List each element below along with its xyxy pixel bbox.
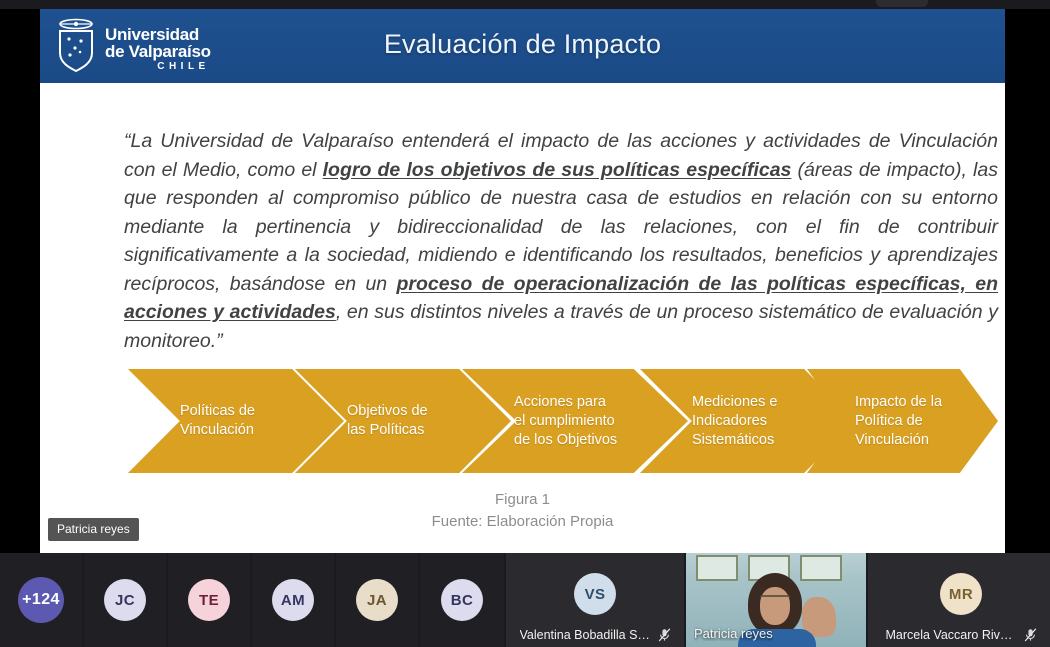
participant-tile[interactable]: TE [168,553,252,647]
wall-picture-frame [696,555,738,581]
avatar-initials: JA [367,592,387,609]
participant-tile[interactable]: BC [420,553,506,647]
participant-overflow-tile[interactable]: +124 [0,553,84,647]
meeting-window: Universidad de Valparaíso CHILE Evaluaci… [0,0,1050,647]
avatar[interactable]: AM [272,579,314,621]
overflow-avatar[interactable]: +124 [18,577,64,623]
wall-picture-frame [800,555,842,581]
avatar[interactable]: VS [574,573,616,615]
participant-video-tile-patricia[interactable]: Patricia reyes [686,553,868,647]
figure-caption-line-1: Figura 1 [40,489,1005,511]
avatar-initials: AM [281,592,305,609]
participant-tile[interactable]: AM [252,553,336,647]
tile-footer: Valentina Bobadilla Se... [506,628,684,642]
tile-footer: Patricia reyes [686,626,866,641]
slide-header-band: Universidad de Valparaíso CHILE Evaluaci… [40,9,1005,83]
participant-name: Patricia reyes [694,626,773,641]
collapsed-toolbar-handle[interactable] [876,0,928,7]
presenter-name-badge: Patricia reyes [48,518,139,541]
participant-name: Marcela Vaccaro Rivera [886,628,1018,642]
avatar-initials: TE [199,592,219,609]
avatar[interactable]: BC [441,579,483,621]
avatar[interactable]: JC [104,579,146,621]
speaker-glasses [760,595,790,603]
avatar-initials: JC [115,592,135,609]
figure-caption-line-2: Fuente: Elaboración Propia [40,511,1005,533]
figure-caption: Figura 1 Fuente: Elaboración Propia [40,489,1005,533]
participant-filmstrip[interactable]: +124 JC TE AM JA BC [0,553,1050,647]
speaker-face [760,587,790,625]
quote-bold-1: logro de los objetivos de sus políticas … [323,159,792,181]
mic-off-icon [658,628,671,642]
avatar-initials: VS [585,586,606,603]
shared-screen-slide[interactable]: Universidad de Valparaíso CHILE Evaluaci… [40,9,1005,553]
overflow-count: +124 [22,591,60,609]
avatar[interactable]: JA [356,579,398,621]
slide-quote-paragraph: “La Universidad de Valparaíso entenderá … [124,127,998,355]
process-step-label: Políticas de Vinculación [128,402,261,440]
participant-tile-valentina[interactable]: VS Valentina Bobadilla Se... [506,553,686,647]
tile-footer: Marcela Vaccaro Rivera [868,628,1050,642]
participant-tile-marcela[interactable]: MR Marcela Vaccaro Rivera [868,553,1050,647]
window-top-strip [0,0,1050,9]
avatar[interactable]: TE [188,579,230,621]
avatar-initials: BC [451,592,473,609]
avatar-initials: MR [949,586,973,603]
logo-line-3: CHILE [105,62,211,72]
participant-tile[interactable]: JA [336,553,420,647]
participant-tile[interactable]: JC [84,553,168,647]
slide-title: Evaluación de Impacto [40,29,1005,60]
participant-name: Valentina Bobadilla Se... [520,628,652,642]
avatar[interactable]: MR [940,573,982,615]
process-chevron-diagram: Políticas de Vinculación Objetivos de la… [128,369,998,473]
mic-off-icon [1024,628,1037,642]
